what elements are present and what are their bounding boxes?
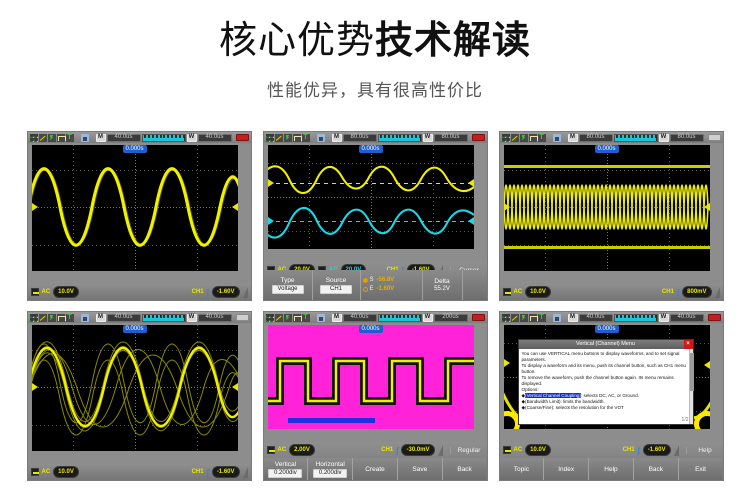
topbar-gap-2 (326, 134, 331, 142)
trigger-preview-icon (614, 314, 658, 322)
ch1-badge-icon[interactable] (31, 288, 39, 296)
softkey-label: Help (604, 466, 617, 473)
rising-slope-icon: ∫ (207, 468, 209, 477)
ch1-scale-readout[interactable]: 2.00V (289, 444, 315, 456)
run-stop-indicator[interactable]: M (568, 314, 578, 322)
ch1-scale-readout[interactable]: 10.0V (53, 286, 79, 298)
topbar-gap (75, 314, 80, 322)
help-option-desc: : limits the bandwidth. (561, 399, 605, 404)
softkey-label: Horizontal (316, 461, 345, 468)
scope1-waveform-area[interactable]: 0.000s (32, 145, 238, 271)
timebase-readout[interactable]: 40.0us (107, 314, 141, 322)
slope-icon[interactable] (511, 134, 519, 142)
softkey-back[interactable]: Back (633, 458, 678, 480)
scope5-bottombar: AC 2.00V CH1 ∫ -30.0mV Regular Vertical … (264, 442, 487, 480)
close-icon[interactable]: × (684, 340, 693, 349)
scope5-softkey-menu: Vertical 0.200div Horizontal 0.200div Cr… (264, 458, 487, 480)
cursor-value: -56.8V (377, 277, 395, 284)
trigger-timestamp: 0.000s (594, 325, 618, 333)
ch1-level-marker-right[interactable] (704, 203, 710, 211)
trigger-preview-icon (142, 314, 186, 322)
scope6-topbar: T M 40.0us W 40.0us (500, 312, 723, 323)
lock-icon[interactable] (317, 134, 325, 142)
table-col-cursors[interactable]: S -56.8V E -1.60V (360, 270, 422, 300)
window-timebase-readout[interactable]: 80.0us (434, 134, 468, 142)
help-page-indicator: 1/2 (682, 417, 689, 423)
cursor-row-s[interactable]: S -56.8V (363, 277, 395, 284)
lock-icon[interactable] (81, 314, 89, 322)
ch1-waveform (32, 145, 238, 271)
window-indicator[interactable]: W (187, 134, 197, 142)
topbar-gap-2 (562, 314, 567, 322)
battery-icon (236, 134, 249, 141)
trigger-preview-icon (378, 314, 422, 322)
scope1-topbar: T M 40.0us W 40.0us (28, 132, 251, 143)
window-timebase-readout[interactable]: 80.0us (670, 134, 704, 142)
ch1-level-marker-right[interactable] (232, 383, 238, 391)
zigzag-icon[interactable] (520, 134, 528, 142)
lock-icon[interactable] (553, 134, 561, 142)
topbar-gap (311, 314, 316, 322)
scope-screenshot-2: T M 80.0us W 80.0us 0.000s (263, 131, 488, 301)
help-dialog-titlebar: Vertical (Channel) Menu × (519, 340, 693, 349)
trigger-t-icon[interactable]: T (538, 314, 546, 322)
scope4-waveform-area[interactable]: 0.000s (32, 325, 238, 451)
scope-screenshot-5: T M 40.0us W 200us 0.000s (263, 311, 488, 481)
ch1-scale-readout[interactable]: 10.0V (53, 466, 79, 478)
scope3-topbar: T M 80.0us W 80.0us (500, 132, 723, 143)
scope5-waveform-area[interactable]: 0.000s (268, 325, 474, 429)
scope5-topbar: T M 40.0us W 200us (264, 312, 487, 323)
bottombar-divider (715, 287, 720, 298)
help-dialog-title: Vertical (Channel) Menu (576, 341, 635, 347)
pulse-icon[interactable] (293, 314, 301, 322)
ch1-level-marker-left[interactable] (32, 383, 38, 391)
bottombar-divider (438, 445, 443, 456)
window-indicator[interactable]: W (187, 314, 197, 322)
table-col-blank (462, 270, 487, 300)
ch1-level-marker-right[interactable] (468, 179, 474, 187)
topbar-gap (311, 134, 316, 142)
help-option-term: (Coarse/Fine) (525, 405, 553, 410)
slope-icon[interactable] (39, 314, 47, 322)
help-dialog-body[interactable]: You can use VERTICAL menu buttons to dis… (519, 349, 693, 424)
trigger-timestamp: 0.000s (358, 145, 382, 153)
trigger-timestamp: 0.000s (358, 325, 382, 333)
help-dialog[interactable]: Vertical (Channel) Menu × You can use VE… (518, 339, 694, 425)
scope6-bottombar: AC 10.0V CH1 ∫ -1.60V Help Topic Index H… (500, 442, 723, 480)
scope6-softkey-menu: Topic Index Help Back Exit (500, 458, 723, 480)
battery-icon (708, 314, 721, 321)
battery-icon (472, 134, 485, 141)
topbar-gap-2 (326, 314, 331, 322)
cursor-unselected-dot-icon (363, 287, 368, 292)
rising-slope-icon: ∫ (677, 288, 679, 297)
scope3-bottombar: AC 10.0V CH1 ∫ 800mV (500, 284, 723, 300)
topbar-gap (547, 134, 552, 142)
unsynced-sweep-waveform (32, 325, 238, 451)
table-col-type[interactable]: Type Voltage (264, 270, 312, 300)
zigzag-icon[interactable] (284, 314, 292, 322)
slope-icon[interactable] (39, 134, 47, 142)
trigger-timestamp: 0.000s (122, 145, 146, 153)
softkey-topic[interactable]: Topic (500, 458, 544, 480)
mode-label: Regular (450, 447, 484, 454)
trigger-level-readout[interactable]: -1.60V (212, 466, 240, 478)
battery-icon (472, 314, 485, 321)
trigger-source-label: CH1 (623, 447, 635, 453)
trigger-preview-icon (614, 134, 658, 142)
help-option-term: (Vertical Channel Coupling) (525, 393, 581, 398)
ch2-level-marker-left[interactable] (268, 217, 274, 225)
ch1-coupling-label: AC (42, 468, 51, 476)
ch2-trace (268, 208, 474, 238)
page-title-bold: 技术解读 (375, 20, 531, 62)
softkey-help[interactable]: Help (588, 458, 633, 480)
pulse-icon[interactable] (293, 134, 301, 142)
ch2-level-marker-right[interactable] (468, 217, 474, 225)
acquire-icon[interactable] (502, 134, 510, 142)
window-indicator[interactable]: W (423, 134, 433, 142)
topbar-gap (547, 314, 552, 322)
timebase-readout[interactable]: 80.0us (343, 134, 377, 142)
cursor-name: E (370, 286, 375, 293)
scope2-waveform-area[interactable]: 0.000s (268, 145, 474, 249)
help-scrollbar[interactable] (689, 349, 693, 424)
run-stop-indicator[interactable]: M (96, 314, 106, 322)
cursor-row-e[interactable]: E -1.60V (363, 286, 395, 293)
window-indicator[interactable]: W (659, 134, 669, 142)
col-header: Source (326, 277, 347, 284)
scope1-bottombar: AC 10.0V CH1 ∫ -1.60V (28, 284, 251, 300)
window-timebase-readout[interactable]: 40.0us (670, 314, 704, 322)
pulse-icon[interactable] (57, 314, 65, 322)
scope-screenshot-6: T M 40.0us W 40.0us 0.000s (499, 311, 724, 481)
acquire-icon[interactable] (502, 314, 510, 322)
acquire-icon[interactable] (266, 314, 274, 322)
battery-icon (236, 314, 249, 321)
window-timebase-readout[interactable]: 40.0us (198, 134, 232, 142)
ch1-coupling-label: AC (514, 288, 523, 296)
col-header: Type (280, 277, 294, 284)
battery-icon (708, 134, 721, 141)
trigger-preview-icon (142, 134, 186, 142)
ch1-coupling-label: AC (278, 446, 287, 454)
ch1-trace (268, 166, 474, 193)
run-stop-indicator[interactable]: M (332, 314, 342, 322)
cursor-name: S (370, 277, 375, 284)
ch1-level-marker-right[interactable] (704, 361, 710, 369)
cursor-selected-dot-icon (363, 278, 368, 283)
softkey-vertical[interactable]: Vertical 0.200div (264, 458, 308, 480)
page-title: 核心优势技术解读 (0, 18, 750, 64)
help-option-desc: : selects the resolution for the VOT (553, 405, 624, 410)
topbar-gap-2 (90, 314, 95, 322)
scope3-waveform-area[interactable]: 0.000s (504, 145, 710, 271)
trigger-timestamp: 0.000s (122, 325, 146, 333)
square-wave-mask (268, 325, 474, 429)
ch1-scale-readout[interactable]: 10.0V (525, 286, 551, 298)
scope6-waveform-area[interactable]: 0.000s Vertical (Channel) Menu × You can… (504, 325, 710, 429)
ch1-badge-icon[interactable] (31, 468, 39, 476)
zigzag-icon[interactable] (48, 314, 56, 322)
col-value[interactable]: Voltage (272, 285, 304, 294)
rising-slope-icon: ∫ (396, 446, 398, 455)
help-option-desc: : selects DC, AC, or Ground. (581, 393, 639, 398)
mask-progress-bar (288, 418, 375, 423)
softkey-create[interactable]: Create (352, 458, 397, 480)
trigger-level-readout[interactable]: -30.0mV (401, 444, 434, 456)
trigger-source-label: CH1 (192, 289, 204, 295)
softkey-label: Topic (514, 466, 529, 473)
zigzag-icon[interactable] (48, 134, 56, 142)
help-paragraph: You can use VERTICAL menu buttons to dis… (522, 351, 690, 363)
slope-icon[interactable] (511, 314, 519, 322)
timebase-readout[interactable]: 80.0us (579, 134, 613, 142)
softkey-value[interactable]: 0.200div (268, 469, 302, 478)
timebase-readout[interactable]: 40.0us (107, 134, 141, 142)
delta-header: Delta (434, 278, 449, 285)
lock-icon[interactable] (81, 134, 89, 142)
ch1-coupling-label: AC (514, 446, 523, 454)
ch1-level-marker-right[interactable] (232, 203, 238, 211)
topbar-gap-2 (562, 134, 567, 142)
trigger-t-icon[interactable]: T (302, 134, 310, 142)
ch1-level-marker-left[interactable] (32, 203, 38, 211)
scope5-infobar: AC 2.00V CH1 ∫ -30.0mV Regular (264, 442, 487, 458)
page-subtitle: 性能优异，具有很高性价比 (0, 76, 750, 101)
softkey-label: Save (412, 466, 427, 473)
help-option-term: (Bandwidth Limit) (525, 399, 561, 404)
acquire-icon[interactable] (266, 134, 274, 142)
help-option-item[interactable]: ◆(Coarse/Fine): selects the resolution f… (522, 405, 690, 411)
softkey-label: Back (649, 466, 663, 473)
scope4-topbar: T M 40.0us W 40.0us (28, 312, 251, 323)
run-stop-indicator[interactable]: M (568, 134, 578, 142)
scope4-bottombar: AC 10.0V CH1 ∫ -1.60V (28, 464, 251, 480)
softkey-label: Create (365, 466, 385, 473)
softkey-label: Index (558, 466, 574, 473)
scope6-infobar: AC 10.0V CH1 ∫ -1.60V Help (500, 442, 723, 458)
screenshot-grid: T M 40.0us W 40.0us 0.000s (0, 131, 750, 481)
trigger-level-readout[interactable]: 800mV (682, 286, 711, 298)
ch1-badge-icon[interactable] (503, 446, 511, 454)
page-title-light: 核心优势 (219, 20, 375, 62)
slope-icon[interactable] (275, 134, 283, 142)
ch1-badge-icon[interactable] (503, 288, 511, 296)
trigger-source-label: CH1 (381, 447, 393, 453)
window-indicator[interactable]: W (659, 314, 669, 322)
ch1-level-marker-left[interactable] (504, 203, 510, 211)
ch1-coupling-label: AC (42, 288, 51, 296)
softkey-label: Exit (695, 466, 706, 473)
run-stop-indicator[interactable]: M (96, 134, 106, 142)
trigger-t-icon[interactable]: T (538, 134, 546, 142)
help-paragraph: To remove the waveform, push the channel… (522, 375, 690, 387)
help-paragraph: To display a waveform and its menu, push… (522, 363, 690, 375)
dense-sine-waveform (504, 145, 710, 271)
timebase-readout[interactable]: 40.0us (579, 314, 613, 322)
lock-icon[interactable] (317, 314, 325, 322)
scope2-bottombar: AC 20.0V AC 20.0V CH1 ∫ -1.60V Cursor Ty… (264, 262, 487, 300)
rising-slope-icon: ∫ (207, 288, 209, 297)
lock-icon[interactable] (553, 314, 561, 322)
cursor-measure-table: Type Voltage Source CH1 S -56.8V E (264, 270, 487, 300)
trigger-source-label: CH1 (192, 469, 204, 475)
rising-slope-icon: ∫ (638, 446, 640, 455)
trigger-timestamp: 0.000s (594, 145, 618, 153)
zigzag-icon[interactable] (520, 314, 528, 322)
ch1-level-marker-left[interactable] (268, 179, 274, 187)
scope3-infobar: AC 10.0V CH1 ∫ 800mV (500, 284, 723, 300)
bottombar-divider (243, 287, 248, 298)
trigger-t-icon[interactable]: T (66, 134, 74, 142)
trigger-level-readout[interactable]: -1.60V (212, 286, 240, 298)
bottombar-divider (674, 445, 679, 456)
scope-screenshot-1: T M 40.0us W 40.0us 0.000s (27, 131, 252, 301)
pulse-icon[interactable] (57, 134, 65, 142)
softkey-horizontal[interactable]: Horizontal 0.200div (307, 458, 352, 480)
scope-screenshot-4: T M 40.0us W 40.0us 0.000s (27, 311, 252, 481)
mode-label: Help (686, 447, 720, 454)
scope2-topbar: T M 80.0us W 80.0us (264, 132, 487, 143)
softkey-save[interactable]: Save (397, 458, 442, 480)
zigzag-icon[interactable] (284, 134, 292, 142)
page-header: 核心优势技术解读 性能优异，具有很高性价比 (0, 0, 750, 101)
softkey-value[interactable]: 0.200div (313, 469, 347, 478)
acquire-icon[interactable] (30, 314, 38, 322)
window-timebase-readout[interactable]: 40.0us (198, 314, 232, 322)
bottombar-divider (243, 467, 248, 478)
softkey-index[interactable]: Index (543, 458, 588, 480)
trigger-preview-icon (378, 134, 422, 142)
window-timebase-readout[interactable]: 200us (434, 314, 468, 322)
pulse-icon[interactable] (529, 314, 537, 322)
trigger-t-icon[interactable]: T (66, 314, 74, 322)
trigger-level-readout[interactable]: -1.60V (643, 444, 671, 456)
pulse-icon[interactable] (529, 134, 537, 142)
acquire-icon[interactable] (30, 134, 38, 142)
scope-screenshot-3: T M 80.0us W 80.0us 0.000s (499, 131, 724, 301)
help-scrollbar-thumb[interactable] (690, 353, 694, 391)
dual-channel-waveform (268, 145, 474, 249)
delta-value: 55.2V (426, 286, 458, 293)
table-col-delta: Delta 55.2V (422, 270, 462, 300)
timebase-readout[interactable]: 40.0us (343, 314, 377, 322)
scope1-infobar: AC 10.0V CH1 ∫ -1.60V (28, 284, 251, 300)
window-indicator[interactable]: W (423, 314, 433, 322)
table-col-source[interactable]: Source CH1 (312, 270, 360, 300)
slope-icon[interactable] (275, 314, 283, 322)
topbar-gap-2 (90, 134, 95, 142)
ch1-badge-icon[interactable] (267, 446, 275, 454)
ch1-level-marker-left[interactable] (504, 359, 510, 367)
trigger-t-icon[interactable]: T (302, 314, 310, 322)
softkey-exit[interactable]: Exit (678, 458, 723, 480)
col-value[interactable]: CH1 (320, 285, 352, 294)
topbar-gap (75, 134, 80, 142)
trigger-source-label: CH1 (662, 289, 674, 295)
softkey-label: Back (457, 466, 471, 473)
scope4-infobar: AC 10.0V CH1 ∫ -1.60V (28, 464, 251, 480)
softkey-back[interactable]: Back (442, 458, 487, 480)
softkey-label: Vertical (275, 461, 296, 468)
cursor-value: -1.60V (377, 286, 395, 293)
run-stop-indicator[interactable]: M (332, 134, 342, 142)
ch1-scale-readout[interactable]: 10.0V (525, 444, 551, 456)
